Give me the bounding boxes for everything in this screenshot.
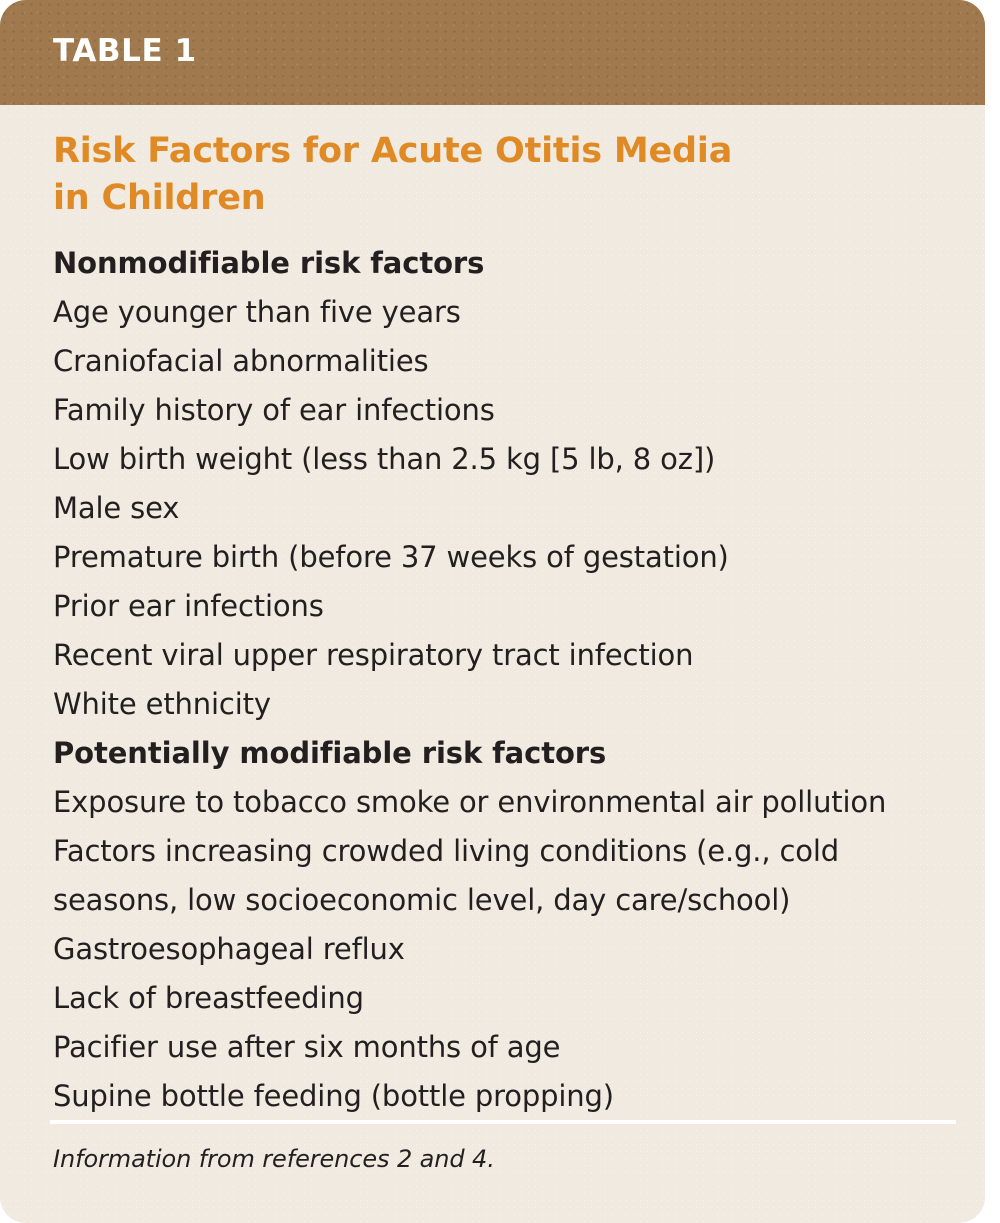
risk-factor-item: Gastroesophageal reflux [53,925,963,974]
risk-factor-item: Supine bottle feeding (bottle propping) [53,1072,963,1121]
risk-factor-item: Recent viral upper respiratory tract inf… [53,631,963,680]
risk-factor-item: Exposure to tobacco smoke or environment… [53,778,963,827]
section-heading: Nonmodifiable risk factors [53,239,963,288]
risk-factor-item: Prior ear infections [53,582,963,631]
risk-factor-item: Pacifier use after six months of age [53,1023,963,1072]
risk-factor-item: Factors increasing crowded living condit… [53,827,963,925]
risk-factor-item: White ethnicity [53,680,963,729]
risk-factor-item: Lack of breastfeeding [53,974,963,1023]
risk-factor-item: Male sex [53,484,963,533]
risk-factor-item: Low birth weight (less than 2.5 kg [5 lb… [53,435,963,484]
source-note: Information from references 2 and 4. [53,1145,495,1173]
table-card: TABLE 1 Risk Factors for Acute Otitis Me… [0,0,985,1223]
table-title-line-2: in Children [53,175,933,222]
table-title-line-1: Risk Factors for Acute Otitis Media [53,128,933,175]
risk-factor-list: Nonmodifiable risk factorsAge younger th… [53,239,963,1121]
risk-factor-item: Premature birth (before 37 weeks of gest… [53,533,963,582]
table-header-band: TABLE 1 [0,0,985,105]
table-body: Risk Factors for Acute Otitis Media in C… [0,105,985,1223]
footer-divider [50,1120,956,1124]
risk-factor-item: Age younger than five years [53,288,963,337]
section-heading: Potentially modifiable risk factors [53,729,963,778]
risk-factor-item: Craniofacial abnormalities [53,337,963,386]
table-number-label: TABLE 1 [53,31,197,71]
risk-factor-item: Family history of ear infections [53,386,963,435]
table-title: Risk Factors for Acute Otitis Media in C… [53,128,933,222]
